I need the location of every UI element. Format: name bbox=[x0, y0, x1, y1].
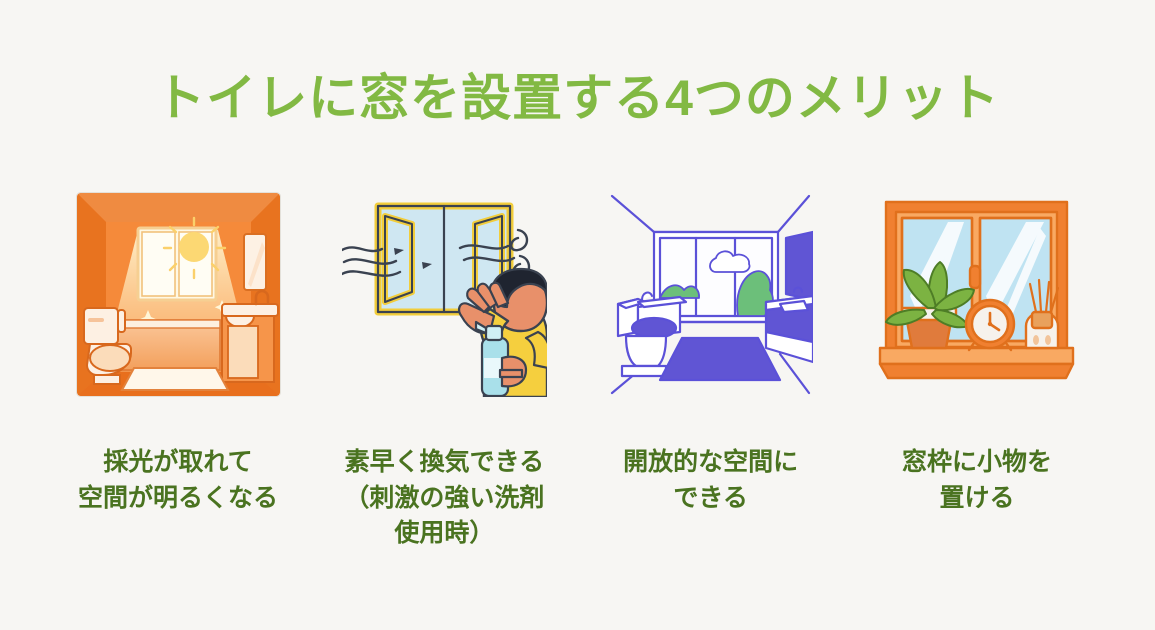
benefits-card-row: 採光が取れて 空間が明るくなる bbox=[0, 192, 1155, 552]
benefit-caption-ventilation: 素早く換気できる （刺激の強い洗剤 使用時） bbox=[344, 445, 544, 552]
benefit-caption-daylight: 採光が取れて 空間が明るくなる bbox=[78, 445, 278, 516]
page-title: トイレに窓を設置する4つのメリット bbox=[0, 58, 1155, 130]
benefit-caption-openspace: 開放的な空間に できる bbox=[623, 445, 798, 516]
open-bathroom-line-art-illustration bbox=[608, 192, 813, 397]
bathroom-with-sunlit-window-illustration bbox=[76, 192, 281, 397]
slide-root: トイレに窓を設置する4つのメリット bbox=[0, 0, 1155, 630]
window-sill-with-plant-clock-diffuser-illustration bbox=[874, 192, 1079, 397]
benefit-card-daylight: 採光が取れて 空間が明るくなる bbox=[62, 192, 294, 552]
benefit-card-windowsill: 窓枠に小物を 置ける bbox=[861, 192, 1093, 552]
benefit-card-openspace: 開放的な空間に できる bbox=[595, 192, 827, 552]
open-window-airflow-person-spray-illustration bbox=[342, 192, 547, 397]
benefit-caption-windowsill: 窓枠に小物を 置ける bbox=[902, 445, 1052, 516]
benefit-card-ventilation: 素早く換気できる （刺激の強い洗剤 使用時） bbox=[328, 192, 560, 552]
